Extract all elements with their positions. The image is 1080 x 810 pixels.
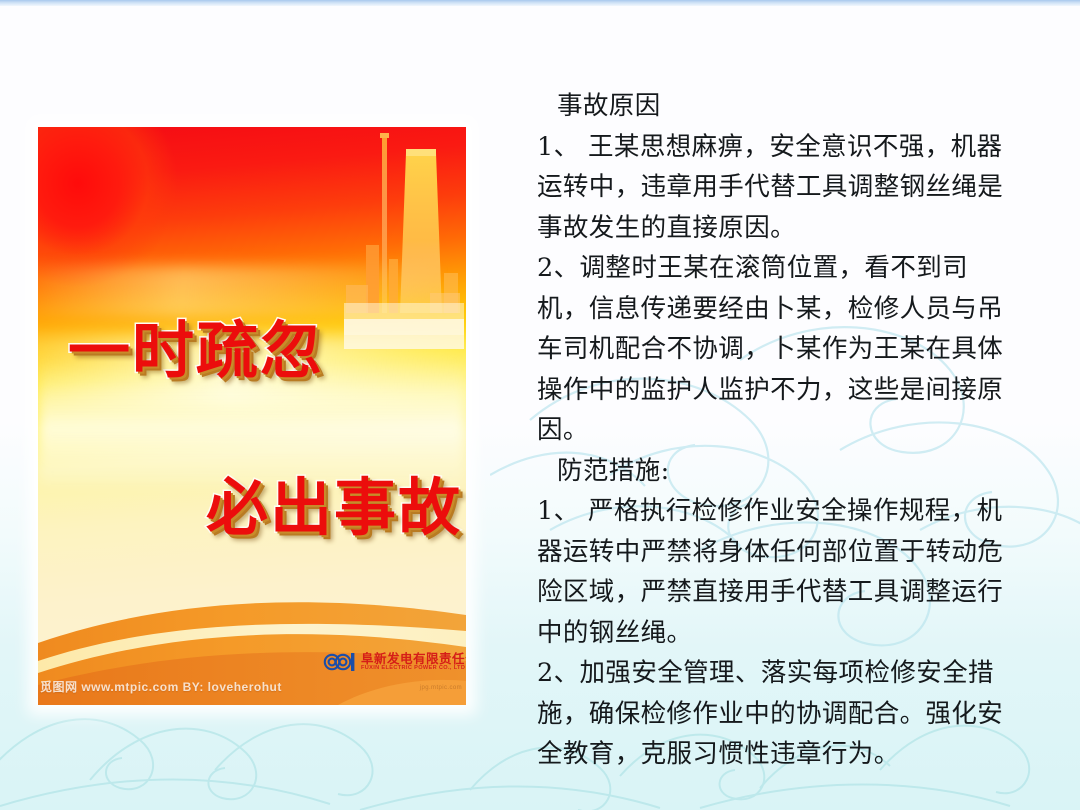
top-accent-band: [0, 0, 1080, 6]
company-name-en: FUXIN ELECTRIC POWER CO., LTD: [361, 665, 466, 672]
cause-item-1: 1、 王某思想麻痹，安全意识不强，机器运转中，违章用手代替工具调整钢丝绳是事故发…: [537, 127, 1007, 249]
watermark-left: 觅图网 www.mtpic.com BY: loveherohut: [40, 678, 282, 695]
company-name-cn: 阜新发电有限责任公司: [361, 652, 466, 665]
heading-accident-cause: 事故原因: [537, 86, 1007, 127]
watermark-right: jpg.mtpic.com: [420, 685, 462, 691]
slide-canvas: 一时疏忽 必出事故: [0, 0, 1080, 810]
poster-headline-line-1: 一时疏忽: [68, 300, 324, 390]
sun-glow: [38, 127, 228, 287]
safety-poster-image: 一时疏忽 必出事故: [38, 127, 466, 705]
measure-item-2: 2、加强安全管理、落实每项检修安全措施，确保检修作业中的协调配合。强化安全教育，…: [537, 653, 1007, 775]
accident-analysis-text: 事故原因 1、 王某思想麻痹，安全意识不强，机器运转中，违章用手代替工具调整钢丝…: [537, 86, 1007, 775]
concentric-arcs-logo-icon: [323, 649, 357, 675]
heading-prevention-measures: 防范措施:: [537, 451, 1007, 492]
measure-item-1: 1、 严格执行检修作业安全操作规程，机器运转中严禁将身体任何部位置于转动危险区域…: [537, 491, 1007, 653]
power-plant-silhouette-icon: [344, 127, 464, 377]
poster-headline-line-2: 必出事故: [206, 457, 462, 547]
cause-item-2: 2、调整时王某在滚筒位置，看不到司机，信息传递要经由卜某，检修人员与吊车司机配合…: [537, 248, 1007, 451]
company-logo: 阜新发电有限责任公司 FUXIN ELECTRIC POWER CO., LTD: [323, 646, 463, 678]
